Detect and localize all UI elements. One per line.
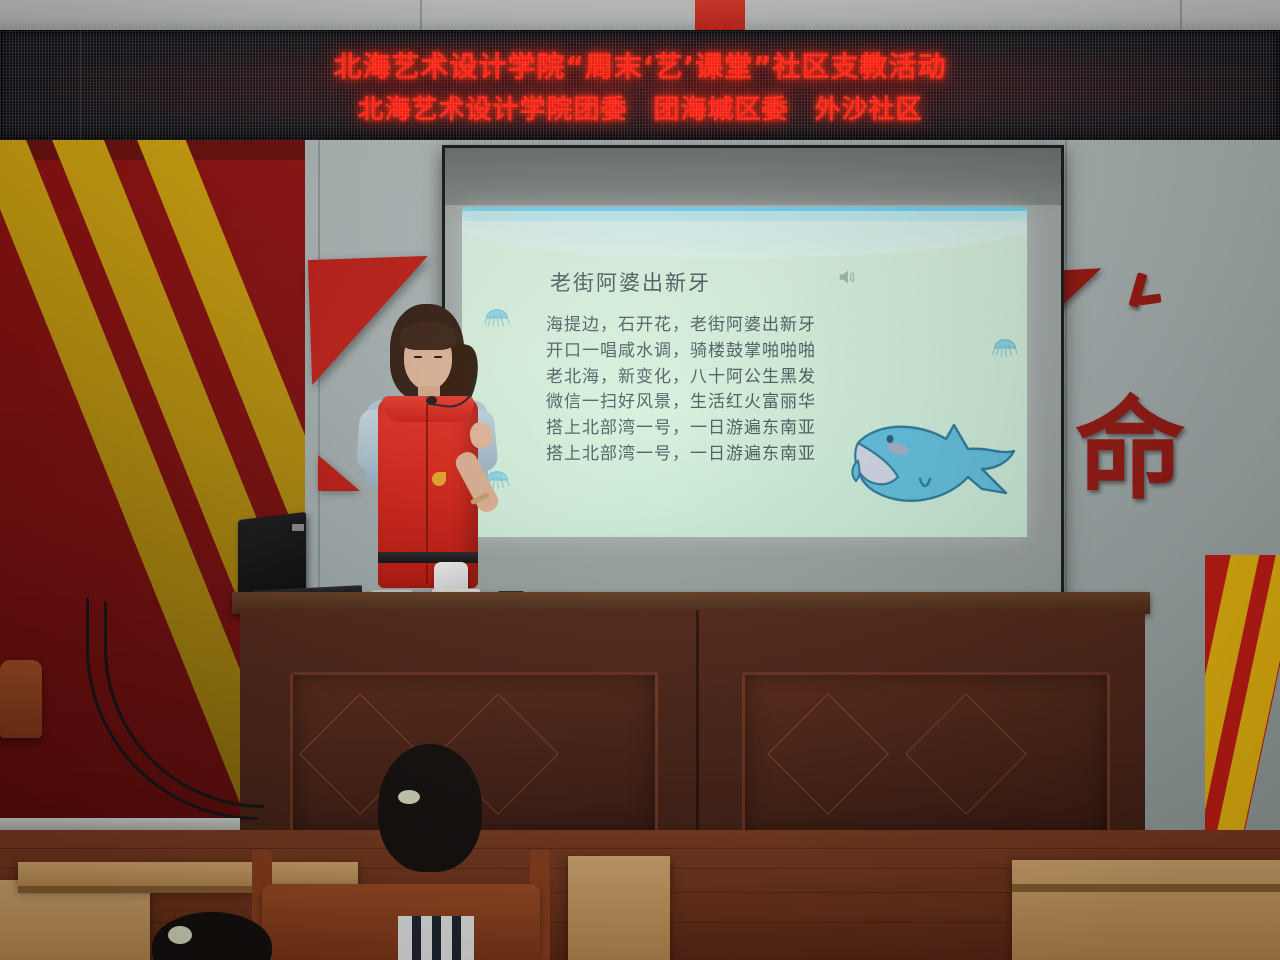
slide-line: 搭上北部湾一号，一日游遍东南亚 [546,442,816,468]
shirt-stripe [452,916,461,960]
wave-layer [462,221,1027,259]
led-org-2: 团海城区委 [653,95,788,125]
desk-edge [1012,884,1280,892]
headset-mic-capsule [426,396,437,405]
led-org-1: 北海艺术设计学院团委 [357,95,627,125]
slide-line: 海提边，石开花，老街阿婆出新牙 [546,313,816,339]
student-head [378,744,482,872]
led-banner: 北海艺术设计学院“周末‘艺’课堂”社区支教活动 北海艺术设计学院团委团海城区委外… [0,30,1280,140]
ceiling [0,0,1280,34]
background-chair [0,660,42,738]
wall-art-fragment [1138,294,1161,306]
presentation-slide: 老街阿婆出新牙 海提边，石开花，老街阿婆出新牙 开口一唱咸水调，骑楼鼓掌啪啪啪 … [462,207,1027,537]
wave-header-graphic [462,207,1027,265]
student-desk [568,856,670,960]
wall-shadow-top [0,140,305,160]
slide-line: 老北海，新变化，八十阿公生黑发 [546,365,816,391]
podium-panel [742,672,1110,838]
laptop-logo [292,524,304,531]
wall-art-character: 命 [1075,395,1185,505]
panel-diamond [905,693,1027,815]
projection-screen: 老街阿婆出新牙 海提边，石开花，老街阿婆出新牙 开口一唱咸水调，骑楼鼓掌啪啪啪 … [442,145,1064,597]
classroom-presentation-scene: 北海艺术设计学院“周末‘艺’课堂”社区支教活动 北海艺术设计学院团委团海城区委外… [0,0,1280,960]
ceiling-seam [420,0,422,34]
slide-line: 开口一唱咸水调，骑楼鼓掌啪啪啪 [546,339,816,365]
ceiling-red-accent [695,0,745,34]
presenter [330,300,520,600]
screen-top-shadow [445,148,1061,205]
led-org-3: 外沙社区 [815,95,923,125]
led-panel-divider [80,30,81,140]
slide-line: 搭上北部湾一号，一日游遍东南亚 [546,416,816,442]
led-text-container: 北海艺术设计学院“周末‘艺’课堂”社区支教活动 北海艺术设计学院团委团海城区委外… [0,30,1280,140]
eye [414,356,422,358]
slide-line: 微信一扫好风景，生活红火富丽华 [546,390,816,416]
eye [434,356,442,358]
led-banner-line-1: 北海艺术设计学院“周末‘艺’课堂”社区支教活动 [333,45,946,85]
shirt-stripe [412,916,421,960]
slide-title: 老街阿婆出新牙 [550,267,711,297]
shark-icon [842,405,1022,525]
led-banner-line-2: 北海艺术设计学院团委团海城区委外沙社区 [357,89,922,126]
student-desk [1012,860,1280,960]
screen-surface: 老街阿婆出新牙 海提边，石开花，老街阿婆出新牙 开口一唱咸水调，骑楼鼓掌啪啪啪 … [445,148,1061,594]
hair-tie [398,790,420,804]
hair-tie [168,926,192,944]
hair-fringe [400,322,456,350]
jellyfish-icon [990,333,1020,363]
wall-art-characters: 命 [1075,290,1225,590]
vest-logo [432,472,446,486]
ceiling-seam [1180,0,1182,34]
right-striped-wall [1205,555,1280,830]
slide-body-text: 海提边，石开花，老街阿婆出新牙 开口一唱咸水调，骑楼鼓掌啪啪啪 老北海，新变化，… [546,313,816,468]
panel-diamond [767,693,889,815]
speaker-icon[interactable] [836,266,858,288]
shirt-stripe [432,916,441,960]
